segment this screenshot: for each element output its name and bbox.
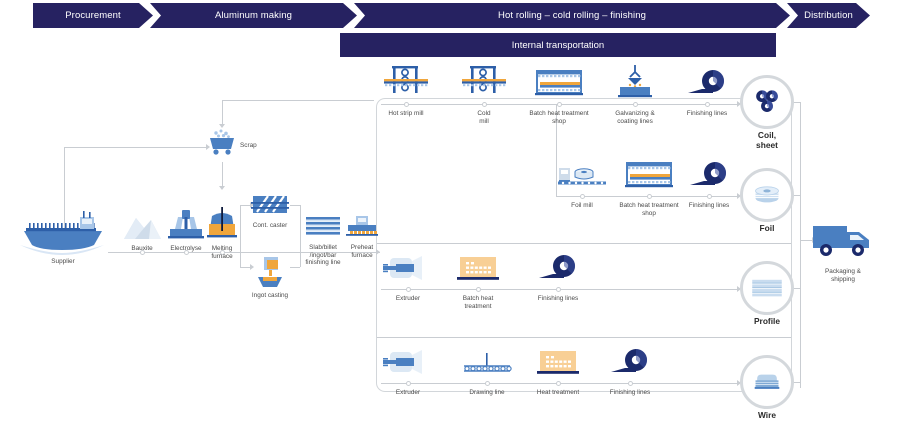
phase-arrow-label: Procurement <box>65 10 120 21</box>
connector-dot <box>485 381 490 386</box>
scrap-to-melting-vertical <box>222 162 223 186</box>
preheat-furnace-icon <box>344 215 380 239</box>
connector-dot <box>557 102 562 107</box>
connector-dot <box>482 102 487 107</box>
profile-product-icon <box>752 279 782 297</box>
row-divider <box>377 337 791 338</box>
slab-billet-icon <box>305 214 341 240</box>
finishing-lines-profile-icon <box>538 253 578 283</box>
arrow-recycle-down-to-scrap <box>219 124 225 128</box>
ingot-out <box>290 267 300 268</box>
process-flow-diagram: ProcurementAluminum makingHot rolling – … <box>0 0 900 430</box>
foil-mill-icon <box>557 164 607 190</box>
extruder-profile-icon <box>382 253 434 283</box>
arrow-scrap-to-melting <box>219 186 225 190</box>
product-ring-wire <box>740 355 794 409</box>
finishing-lines-wire-label: Finishing lines <box>580 389 680 397</box>
recycle-return-vertical <box>222 100 223 124</box>
phase-arrow-distribution: Distribution <box>787 3 870 28</box>
recycle-return-horizontal <box>222 100 374 101</box>
scrap-icon <box>207 129 237 155</box>
packaging-shipping-icon <box>811 220 875 260</box>
phase-arrow-procurement: Procurement <box>33 3 153 28</box>
scrap-label: Scrap <box>240 142 280 150</box>
caster-out <box>290 205 300 206</box>
connector-dot <box>404 102 409 107</box>
product-ring-foil <box>740 168 794 222</box>
connector-dot <box>633 102 638 107</box>
phase-arrow-label: Aluminum making <box>215 10 292 21</box>
connector-dot <box>406 381 411 386</box>
supplier-label: Supplier <box>13 258 113 266</box>
extruder-wire-icon <box>382 347 434 377</box>
connector-dot <box>556 287 561 292</box>
drawing-line-icon <box>462 353 512 377</box>
connector-dot <box>705 102 710 107</box>
connector-dot <box>580 194 585 199</box>
finishing-lines-wire-icon <box>610 347 650 377</box>
product-label-wire: Wire <box>717 410 817 420</box>
product-label-coil-sheet: Coil, sheet <box>717 130 817 150</box>
bauxite-icon <box>121 211 163 241</box>
cont-caster-icon <box>251 191 289 219</box>
connector-dot <box>556 381 561 386</box>
foil-product-icon <box>753 184 781 205</box>
phase-arrow-band: ProcurementAluminum makingHot rolling – … <box>0 0 900 30</box>
connector-dot <box>647 194 652 199</box>
product-label-profile: Profile <box>717 316 817 326</box>
wire-product-icon <box>754 372 780 392</box>
galvanizing-coating-lines-icon <box>617 64 653 98</box>
ingot-casting-label: Ingot casting <box>220 292 320 300</box>
coil-sheet-product-icon <box>753 89 781 115</box>
batch-heat-treatment-shop-icon <box>533 68 585 98</box>
hot-strip-mill-icon <box>384 64 428 98</box>
product-ring-coil-sheet <box>740 75 794 129</box>
packaging-shipping-label: Packaging & shipping <box>793 268 893 283</box>
finishing-lines-foil-icon <box>689 160 729 190</box>
batch-heat-treatment-profile-icon <box>456 255 500 283</box>
phase-arrow-hot-cold-finishing: Hot rolling – cold rolling – finishing <box>354 3 790 28</box>
electrolyse-icon <box>167 207 205 241</box>
product-ring-profile <box>740 261 794 315</box>
connector-dot <box>406 287 411 292</box>
finishing-lines-icon <box>687 68 727 98</box>
row-divider <box>377 243 791 244</box>
connector-dot <box>707 194 712 199</box>
cold-mill-icon <box>462 64 506 98</box>
heat-treatment-wire-icon <box>536 349 580 377</box>
product-label-foil: Foil <box>717 223 817 233</box>
finishing-lines-profile-label: Finishing lines <box>508 295 608 303</box>
connector-dot <box>628 381 633 386</box>
phase-arrow-label: Hot rolling – cold rolling – finishing <box>498 10 646 21</box>
internal-transportation-bar: Internal transportation <box>340 33 776 57</box>
internal-transportation-label: Internal transportation <box>512 40 604 51</box>
supplier-to-scrap-horizontal <box>64 147 208 148</box>
phase-arrow-aluminum-making: Aluminum making <box>150 3 357 28</box>
phase-arrow-label: Distribution <box>804 10 853 21</box>
batch-heat-treatment-shop-foil-icon <box>623 160 675 190</box>
connector-dot <box>476 287 481 292</box>
